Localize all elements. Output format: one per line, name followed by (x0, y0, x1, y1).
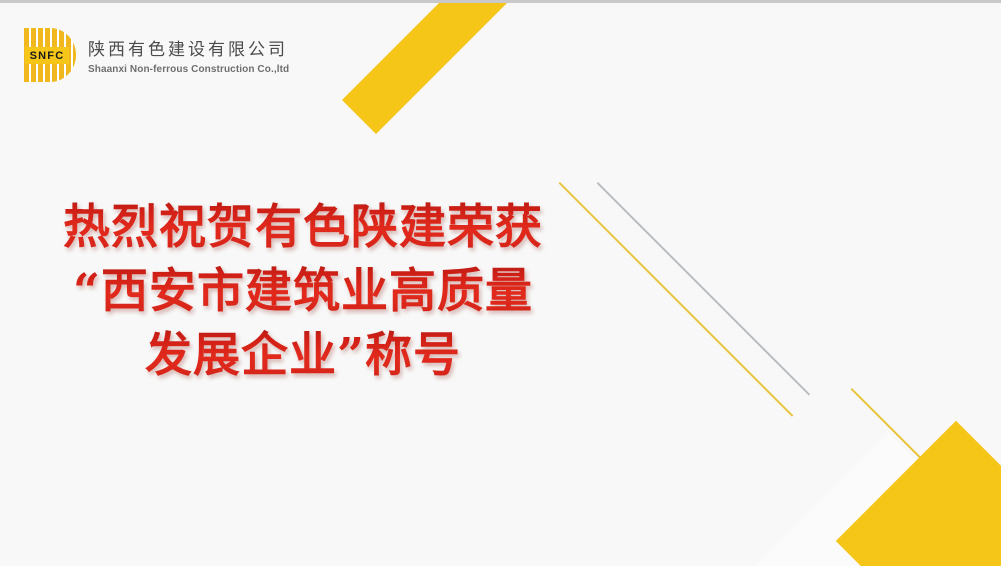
top-divider-rule (0, 0, 1001, 3)
company-brand: 陕西有色建设有限公司 Shaanxi Non-ferrous Construct… (88, 35, 289, 75)
headline-block: 热烈祝贺有色陕建荣获 “西安市建筑业高质量 发展企业”称号 (18, 196, 588, 388)
headline-line-1: 热烈祝贺有色陕建荣获 (18, 196, 588, 260)
company-name-en: Shaanxi Non-ferrous Construction Co.,ltd (88, 64, 289, 75)
company-name-cn: 陕西有色建设有限公司 (88, 35, 289, 60)
poster-canvas: 体 育 馆 榆林 (0, 0, 1001, 566)
snfc-logo-icon: SNFC (24, 28, 76, 82)
company-header: SNFC 陕西有色建设有限公司 Shaanxi Non-ferrous Cons… (24, 28, 289, 82)
headline-line-3: 发展企业”称号 (18, 324, 588, 388)
logo-mark-text: SNFC (30, 50, 65, 62)
headline-line-2: “西安市建筑业高质量 (18, 260, 588, 324)
